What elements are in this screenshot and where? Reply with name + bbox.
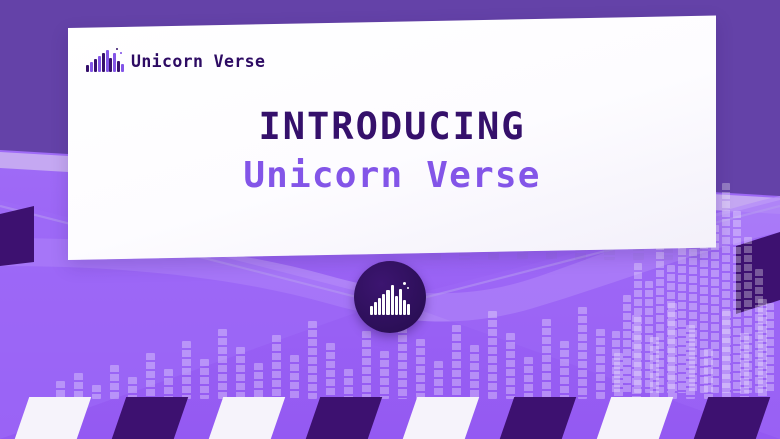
- ornament-bar: [578, 307, 587, 399]
- strip-block: [596, 397, 674, 439]
- ornament-bar: [668, 303, 677, 399]
- icon-bar: [121, 64, 124, 72]
- bottom-barcode-strip: [0, 397, 780, 439]
- ornament-bar: [686, 325, 695, 399]
- strip-block: [499, 397, 577, 439]
- icon-bar: [102, 53, 105, 72]
- ornament-bar: [650, 337, 659, 399]
- ornament-bar: [236, 347, 245, 399]
- envelope-seal: [354, 261, 426, 333]
- strip-block: [693, 397, 771, 439]
- icon-bar: [395, 296, 398, 315]
- icon-bar: [86, 65, 89, 72]
- icon-bar: [109, 58, 112, 72]
- ornament-bar: [380, 351, 389, 399]
- ornament-bar: [182, 341, 191, 399]
- announcement-card: Unicorn Verse INTRODUCING Unicorn Verse: [68, 16, 716, 260]
- ornament-bar: [218, 329, 227, 399]
- icon-bar: [399, 289, 402, 315]
- icon-bar: [374, 302, 377, 315]
- icon-bar: [386, 290, 389, 315]
- ornament-bar: [74, 373, 83, 399]
- ornament-bar: [326, 343, 335, 399]
- announcement-graphic: Unicorn Verse INTRODUCING Unicorn Verse: [0, 0, 780, 439]
- ornament-bar: [164, 369, 173, 399]
- strip-block: [305, 397, 383, 439]
- ornament-bar: [416, 339, 425, 399]
- icon-bar: [94, 59, 97, 72]
- ornament-bar: [704, 349, 713, 399]
- icon-bar: [98, 56, 101, 72]
- icon-dot: [403, 282, 406, 285]
- ornament-bar: [524, 357, 533, 399]
- ornament-bar: [614, 353, 623, 399]
- bar-chart-ascending-icon: [370, 279, 410, 315]
- bar-chart-ascending-icon: [86, 46, 122, 72]
- ornament-bar: [272, 335, 281, 399]
- ornament-bar: [542, 319, 551, 399]
- icon-bar: [117, 61, 120, 72]
- ornament-bar: [740, 333, 749, 399]
- ornament-bar: [362, 331, 371, 399]
- ornament-bar: [722, 311, 731, 399]
- icon-bar: [407, 304, 410, 315]
- ornament-bar: [758, 299, 767, 399]
- icon-bar: [378, 298, 381, 315]
- headline-secondary: Unicorn Verse: [68, 158, 716, 194]
- ornament-bar: [254, 363, 263, 399]
- icon-bar: [403, 300, 406, 315]
- strip-block: [402, 397, 480, 439]
- icon-bar: [90, 62, 93, 72]
- icon-bar: [106, 50, 109, 72]
- ornament-bar: [146, 353, 155, 399]
- headline-primary: INTRODUCING: [68, 108, 716, 145]
- ornament-bar: [308, 321, 317, 399]
- icon-dot: [120, 52, 122, 54]
- headline-block: INTRODUCING Unicorn Verse: [68, 108, 716, 194]
- ornament-bar: [290, 355, 299, 399]
- ornament-bar: [200, 359, 209, 399]
- icon-bar: [370, 306, 373, 315]
- ornament-bar: [506, 333, 515, 399]
- ornament-bar: [344, 369, 353, 399]
- icon-bar: [391, 285, 394, 315]
- icon-dot: [116, 48, 118, 50]
- ornament-bar: [632, 315, 641, 399]
- ornament-bar: [434, 361, 443, 399]
- icon-bar: [113, 53, 116, 72]
- strip-block: [14, 397, 92, 439]
- ornament-bar: [488, 311, 497, 399]
- strip-block: [208, 397, 286, 439]
- ornament-bar: [596, 329, 605, 399]
- ornament-bar: [470, 345, 479, 399]
- corner-accent-left: [0, 206, 34, 266]
- brand-name: Unicorn Verse: [131, 54, 265, 73]
- strip-block: [111, 397, 189, 439]
- ornament-bar: [560, 341, 569, 399]
- ornament-bar: [110, 365, 119, 399]
- icon-bar: [382, 294, 385, 315]
- brand-logo: Unicorn Verse: [86, 46, 265, 72]
- ornament-bar: [452, 325, 461, 399]
- icon-dot: [407, 287, 409, 289]
- ornament-bar: [128, 377, 137, 399]
